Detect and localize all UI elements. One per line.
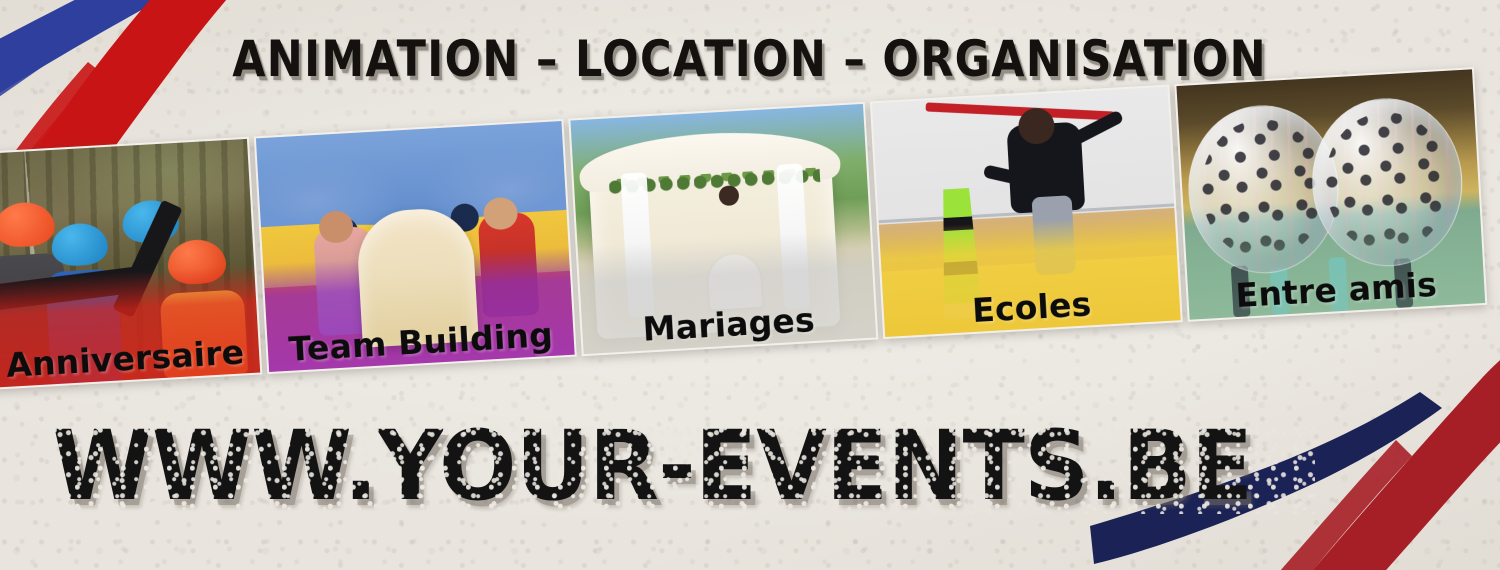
photo-tile-mariages[interactable]: Mariages xyxy=(568,102,878,356)
headline-text: ANIMATION – LOCATION – ORGANISATION xyxy=(233,34,1268,84)
orange-helmet-icon xyxy=(0,201,55,248)
inflatable-hole-right xyxy=(450,203,480,233)
website-url-text: WWW.YOUR-EVENTS.BE xyxy=(52,418,1252,514)
photo-strip: Anniversaire Team Building xyxy=(0,65,1500,390)
photo-tile-ecoles[interactable]: Ecoles xyxy=(870,85,1183,340)
bride-head xyxy=(718,185,739,206)
promotional-banner: ANIMATION – LOCATION – ORGANISATION Anni… xyxy=(0,0,1500,570)
blue-helmet-icon xyxy=(51,222,109,267)
headline-banner: ANIMATION – LOCATION – ORGANISATION xyxy=(0,34,1500,84)
photo-tile-entre-amis[interactable]: Entre amis xyxy=(1174,67,1487,322)
website-url-block[interactable]: WWW.YOUR-EVENTS.BE xyxy=(52,418,1315,514)
photo-tile-anniversaire[interactable]: Anniversaire xyxy=(0,137,262,390)
photo-tile-team-building[interactable]: Team Building xyxy=(254,119,577,374)
